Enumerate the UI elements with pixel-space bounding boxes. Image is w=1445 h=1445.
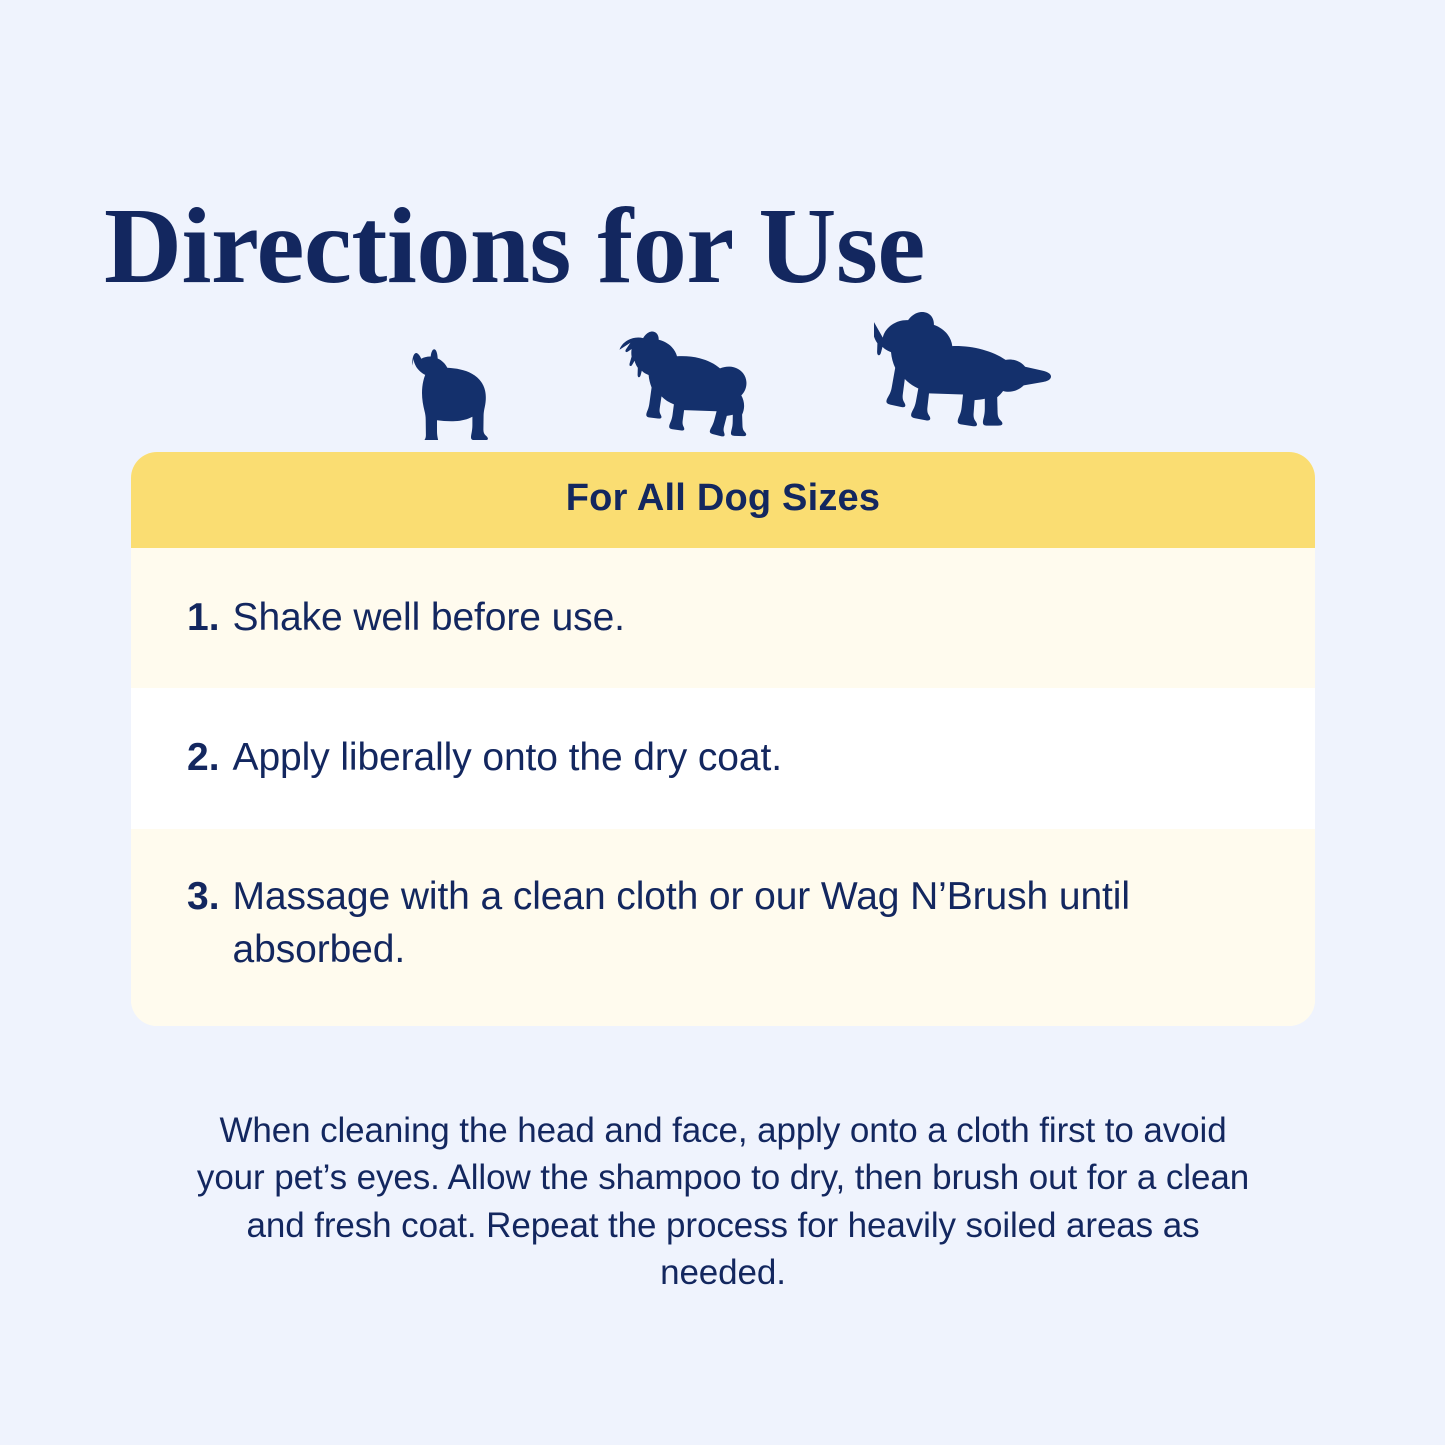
step-number-3: 3. xyxy=(187,871,220,924)
step-row-1: 1. Shake well before use. xyxy=(131,548,1315,689)
step-text-1: Shake well before use. xyxy=(233,592,1243,645)
page-title: Directions for Use xyxy=(104,190,925,303)
small-dog-silhouette-icon xyxy=(391,348,495,440)
dog-size-illustrations xyxy=(0,295,1445,440)
directions-card: For All Dog Sizes 1. Shake well before u… xyxy=(131,452,1315,1026)
card-header-for-all-dog-sizes: For All Dog Sizes xyxy=(131,452,1315,548)
step-row-3: 3. Massage with a clean cloth or our Wag… xyxy=(131,829,1315,1026)
directions-for-use-page: Directions for Use For All Dog Sizes 1. … xyxy=(0,0,1445,1445)
medium-dog-silhouette-icon xyxy=(613,330,756,440)
step-text-3: Massage with a clean cloth or our Wag N’… xyxy=(233,871,1243,976)
step-row-2: 2. Apply liberally onto the dry coat. xyxy=(131,688,1315,829)
step-text-2: Apply liberally onto the dry coat. xyxy=(233,732,1243,785)
footnote-text: When cleaning the head and face, apply o… xyxy=(192,1107,1254,1296)
step-number-1: 1. xyxy=(187,592,220,645)
step-number-2: 2. xyxy=(187,732,220,785)
large-dog-silhouette-icon xyxy=(874,312,1054,440)
